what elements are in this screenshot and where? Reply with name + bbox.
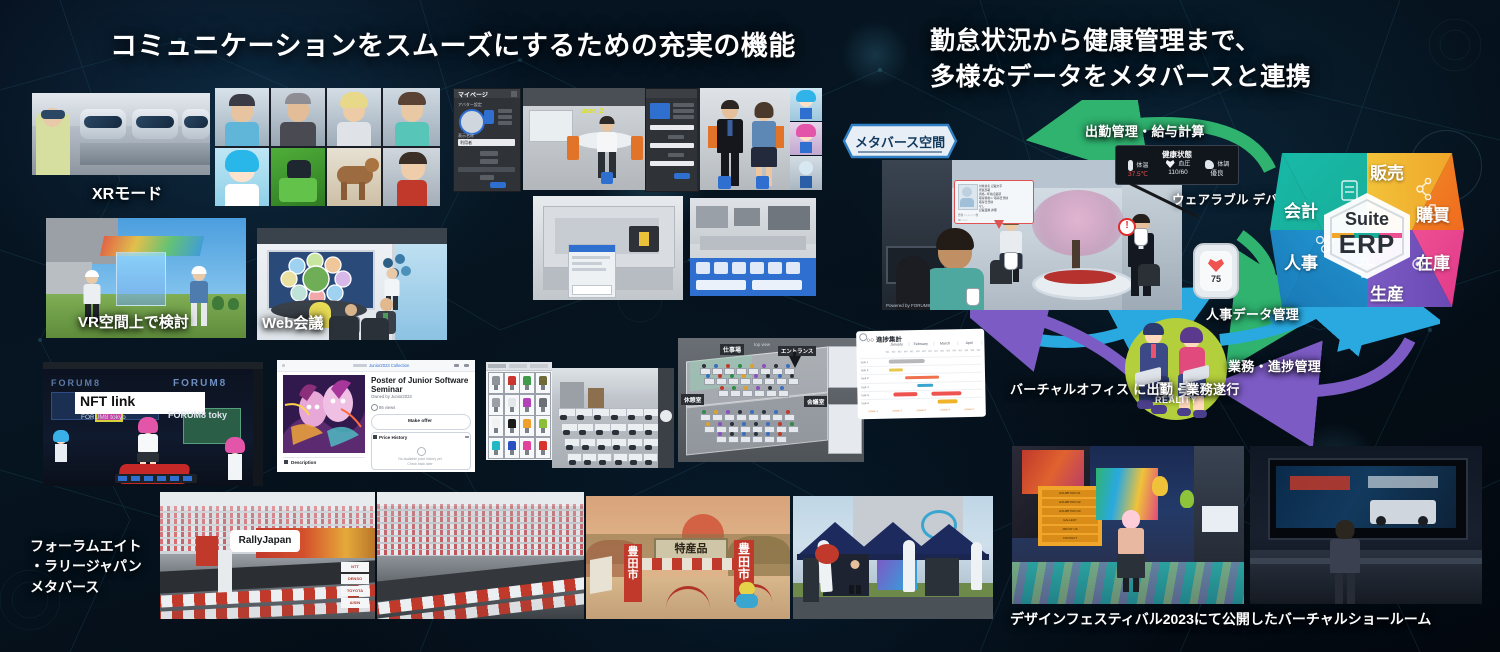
chair-icon	[508, 441, 516, 450]
chair-base-icon	[541, 450, 545, 455]
speech-tail	[994, 220, 1004, 229]
nft-description-label[interactable]: Description	[291, 460, 316, 465]
avatar-thumb	[215, 148, 269, 206]
chair-icon	[539, 419, 547, 428]
cursor-hand-icon	[1134, 228, 1148, 246]
share-icon[interactable]	[454, 364, 459, 367]
toolbar-icon[interactable]	[118, 476, 127, 481]
gantt-month: January	[884, 342, 909, 347]
sponsor-board: DENSO	[341, 574, 369, 584]
nft-title: Poster of Junior Software Seminar	[371, 376, 471, 394]
plan-desk	[704, 378, 715, 385]
chair-swatch[interactable]	[519, 437, 535, 459]
office-chair	[329, 316, 359, 340]
plan-person	[766, 422, 770, 426]
virtual-office-label: バーチャルオフィス に出勤・業務遂行	[1010, 381, 1240, 399]
erp-segment-purchase: 購買	[1416, 201, 1450, 226]
toolbar-field[interactable]	[752, 280, 802, 290]
sponsor-boards: NTTDENSOTOYOTAAISIN	[341, 562, 369, 612]
chair-icon	[508, 419, 516, 428]
gantt-icon	[859, 333, 867, 341]
nameplate	[756, 176, 769, 189]
showroom-menu-item[interactable]: GALLERY	[1042, 517, 1098, 524]
nft-marketplace-card[interactable]: Junior2023 Collection Description	[277, 360, 475, 472]
chair-swatch[interactable]	[504, 372, 520, 394]
save-button[interactable]	[490, 182, 506, 188]
field[interactable]	[650, 143, 694, 148]
showroom-menu-item[interactable]: EXHIBITION 02	[1042, 499, 1098, 506]
chair-unit	[630, 460, 637, 465]
feather-flag	[971, 542, 982, 590]
avatar-thumb	[271, 148, 325, 206]
heading-right: 勤怠状況から健康管理まで、 多様なデータをメタバースと連携	[930, 24, 1311, 95]
plan-person	[730, 422, 734, 426]
department-select[interactable]	[480, 151, 498, 156]
plan-desk	[788, 378, 799, 385]
chair-swatch[interactable]	[504, 437, 520, 459]
caption-rally-metaverse: フォーラムエイト ・ラリージャパン メタバース	[30, 536, 142, 597]
chair-icon	[539, 441, 547, 450]
muscle-icon	[1205, 160, 1214, 169]
chair-unit	[615, 460, 622, 465]
chair-base-icon	[541, 428, 545, 433]
plan-person	[726, 364, 730, 368]
toolbar-icon[interactable]	[696, 262, 710, 274]
plan-topview-label: top view	[754, 342, 770, 347]
chair-base-icon	[541, 385, 545, 390]
plan-desk	[728, 378, 739, 385]
plan-person	[774, 364, 778, 368]
gantt-row-label: task 4	[861, 385, 869, 389]
chevron-down-icon[interactable]	[465, 436, 469, 438]
plan-desk	[760, 414, 771, 421]
booth-panel	[925, 558, 959, 596]
chat-input[interactable]	[572, 285, 612, 295]
feather-flag	[903, 540, 915, 592]
field[interactable]	[668, 135, 684, 139]
chair-unit	[569, 460, 576, 465]
nameplate	[718, 176, 731, 189]
window-titlebar	[646, 89, 698, 98]
make-offer-label: Make offer	[371, 419, 469, 424]
chair-unit	[563, 430, 570, 435]
chair-swatch[interactable]	[488, 394, 504, 416]
back-icon[interactable]	[282, 364, 285, 367]
meeting-room-scene	[690, 198, 816, 296]
chair-swatch[interactable]	[504, 415, 520, 437]
plan-person	[786, 410, 790, 414]
plan-desk	[748, 414, 759, 421]
event-booth-scene	[793, 496, 993, 619]
mypage-panel[interactable]: マイページ アバター設定 表示名称 利用者	[453, 88, 521, 192]
plan-desk	[764, 378, 775, 385]
chair-unit	[645, 460, 652, 465]
toolbar-icon[interactable]	[183, 476, 192, 481]
balloon-icon	[1180, 490, 1194, 508]
avatar-back	[896, 256, 930, 310]
chair-icon	[508, 376, 516, 385]
stand-row	[160, 519, 375, 524]
chair-swatch[interactable]	[519, 372, 535, 394]
plan-label-workspace: 仕事場	[720, 344, 744, 355]
showroom-menu-item[interactable]: EXHIBITION 03	[1042, 508, 1098, 515]
plan-person	[702, 410, 706, 414]
avatar-male	[716, 102, 744, 186]
nft-owner: Owned by Junior2023	[371, 394, 412, 399]
avatar-thumb	[790, 122, 822, 155]
plan-person	[762, 364, 766, 368]
chair-unit	[629, 445, 636, 450]
gantt-bar[interactable]	[889, 359, 925, 363]
gantt-bar[interactable]	[893, 392, 917, 396]
plan-person	[754, 422, 758, 426]
toolbar-icon[interactable]	[714, 262, 728, 274]
chair-base-icon	[525, 407, 529, 412]
plan-desk	[740, 436, 751, 443]
window-titlebar	[43, 362, 263, 369]
plan-person	[730, 374, 734, 378]
plan-person	[706, 422, 710, 426]
plan-person	[718, 374, 722, 378]
status-row	[458, 167, 515, 172]
chair-icon	[492, 398, 500, 407]
health-card-title: 健康状態	[1116, 149, 1238, 160]
avatar-thumb	[383, 88, 440, 146]
erp-segment-production: 生産	[1370, 280, 1404, 305]
toolbar-field[interactable]	[696, 280, 746, 290]
smartwatch-icon: 75	[1193, 243, 1239, 299]
visitor-avatar	[1116, 510, 1146, 592]
avatar-thumb	[271, 88, 325, 146]
avatar-settings-panel[interactable]	[645, 88, 699, 192]
chair-swatch[interactable]	[535, 372, 551, 394]
chair-unit	[594, 415, 601, 420]
plan-person	[742, 422, 746, 426]
field[interactable]	[650, 161, 694, 166]
plan-person	[790, 374, 794, 378]
toolbar-icon[interactable]	[750, 262, 764, 274]
heading-left: コミュニケーションをスムーズにするための充実の機能	[110, 24, 796, 63]
plan-person	[742, 374, 746, 378]
gantt-row-label: task 6	[862, 401, 870, 405]
stand-row	[160, 513, 375, 518]
avatar-info-card: 対象者名 記載文字所属部署資格 □年前記載項取得資格1 / 取得日登録取得日登録…	[954, 180, 1034, 224]
plan-person	[702, 364, 706, 368]
plan-desk	[778, 390, 789, 397]
plan-desk	[740, 378, 751, 385]
toolbar-icon[interactable]	[732, 262, 746, 274]
chair-swatch[interactable]	[535, 437, 551, 459]
pillar-left: 豊田市	[624, 544, 642, 602]
chair-unit	[611, 415, 618, 420]
chair-base-icon	[510, 385, 514, 390]
rally-stadium-scene-2	[377, 492, 584, 619]
stand-row	[377, 544, 584, 549]
tab[interactable]	[530, 364, 548, 368]
chair-icon	[523, 398, 531, 407]
avatar-info-footer-right: ID ○○○○	[958, 219, 968, 222]
mypage-section-label: アバター設定	[458, 102, 482, 108]
plan-desk	[752, 436, 763, 443]
chair-base-icon	[510, 407, 514, 412]
avatar-type-button[interactable]	[484, 110, 494, 124]
erp-segment-accounting: 会計	[1284, 197, 1318, 222]
plan-desk	[742, 390, 753, 397]
chair-unit	[584, 460, 591, 465]
chair-unit	[560, 415, 567, 420]
stand-row	[377, 550, 584, 555]
plan-person	[732, 386, 736, 390]
plan-person	[778, 422, 782, 426]
chair-icon	[492, 376, 500, 385]
chair-icon	[539, 376, 547, 385]
showroom-menu-item[interactable]: CONTACT	[1042, 535, 1098, 542]
plan-desk	[764, 436, 775, 443]
showroom-menu-item[interactable]: ABOUT US	[1042, 526, 1098, 533]
chair-base-icon	[510, 450, 514, 455]
office-chair	[361, 318, 389, 340]
plan-desk	[752, 378, 763, 385]
size-field[interactable]	[498, 109, 512, 113]
world-text: FORUM8 toky	[168, 410, 227, 420]
stand-row	[377, 537, 584, 542]
vr-classroom-scene: user_2	[523, 88, 653, 190]
avatar-pair-scene	[700, 88, 790, 190]
thermometer-icon	[1128, 160, 1133, 171]
plan-person	[766, 374, 770, 378]
toolbar-icon[interactable]	[786, 262, 800, 274]
health-item-blood-pressure: 血圧 110/60	[1158, 160, 1198, 177]
plan-desk	[736, 414, 747, 421]
chair-unit	[582, 445, 589, 450]
avatar-thumb	[215, 88, 269, 146]
stand-row	[377, 530, 584, 535]
plan-desk	[716, 436, 727, 443]
chair-icon	[523, 419, 531, 428]
nav-gizmo[interactable]	[660, 410, 672, 422]
chair-base-icon	[494, 450, 498, 455]
avatar-gallery	[215, 88, 440, 206]
plan-desk	[712, 414, 723, 421]
toolbar-icon[interactable]	[170, 476, 179, 481]
plan-person	[778, 374, 782, 378]
status-select[interactable]	[480, 159, 498, 164]
avatar-thumb	[790, 88, 822, 121]
plan-desk	[788, 426, 799, 433]
gantt-legend-item: phase 3	[910, 409, 933, 412]
plan-label-entrance: エントランス	[778, 346, 816, 356]
mypage-title: マイページ	[458, 90, 488, 99]
plan-desk	[704, 426, 715, 433]
chair-base-icon	[510, 428, 514, 433]
chair-base-icon	[494, 428, 498, 433]
chart-icon	[373, 435, 377, 439]
attendance-label: 出勤管理・給与計算	[1085, 123, 1205, 141]
chair-swatch[interactable]	[488, 372, 504, 394]
showroom-menu-item[interactable]: EXHIBITION 01	[1042, 490, 1098, 497]
user-tag: user_2	[581, 108, 604, 115]
plan-person	[754, 432, 758, 436]
plan-person	[756, 386, 760, 390]
toolbar-icon[interactable]	[144, 476, 153, 481]
rally-banner: RallyJapan	[230, 530, 300, 552]
more-icon[interactable]	[464, 364, 469, 367]
task-progress-label: 業務・進捗管理	[1228, 358, 1321, 376]
plan-person	[762, 410, 766, 414]
plan-person	[714, 364, 718, 368]
description-icon	[284, 460, 288, 464]
screen-banner	[1290, 476, 1350, 490]
chair-swatch[interactable]	[488, 415, 504, 437]
eye-icon	[371, 404, 378, 411]
cursor-hand-icon	[1004, 252, 1018, 270]
sponsor-board: TOYOTA	[341, 586, 369, 596]
avatar	[53, 432, 69, 462]
nft-overlay-title: NFT link	[80, 393, 135, 409]
office-chair	[1138, 264, 1160, 286]
stand-row	[377, 524, 584, 529]
chair-icon	[523, 441, 531, 450]
viewer-side-rail[interactable]	[253, 369, 263, 486]
field[interactable]	[668, 153, 684, 157]
field[interactable]	[650, 125, 694, 130]
visitor-avatar	[847, 560, 863, 594]
erp-segment-inventory: 在庫	[1416, 249, 1450, 274]
plan-desk	[730, 390, 741, 397]
plan-person	[720, 386, 724, 390]
chair-icon	[539, 398, 547, 407]
chair-catalog-panel[interactable]	[486, 362, 552, 460]
chair-base-icon	[525, 428, 529, 433]
office-3d-view	[552, 368, 674, 468]
erp-segment-sales: 販売	[1370, 159, 1404, 184]
avatar-thumb-field[interactable]	[650, 103, 670, 119]
toolbar-icon[interactable]	[157, 476, 166, 481]
plan-person	[774, 410, 778, 414]
brand-text: FORUM8	[173, 378, 227, 389]
chair-unit	[628, 415, 635, 420]
chair-swatch[interactable]	[519, 415, 535, 437]
chair-swatch[interactable]	[535, 394, 551, 416]
nft-collection-label: Junior2023 Collection	[369, 363, 409, 368]
vr-headset-icon	[182, 109, 210, 139]
plan-desk	[772, 414, 783, 421]
field[interactable]	[673, 115, 694, 119]
gantt-row-label: task 3	[861, 376, 869, 380]
chair-unit	[566, 445, 573, 450]
plan-desk	[728, 436, 739, 443]
chair-unit	[645, 430, 652, 435]
showroom-menu-items[interactable]: EXHIBITION 01EXHIBITION 02EXHIBITION 03G…	[1042, 490, 1098, 544]
xr-mode-image	[32, 93, 210, 175]
avatar-thumb	[383, 148, 440, 206]
gantt-row-label: task 2	[861, 368, 869, 372]
metaverse-space-tag: メタバース空間	[842, 123, 958, 159]
apply-button[interactable]	[674, 173, 690, 179]
chair-icon	[523, 376, 531, 385]
sponsor-board: AISIN	[341, 598, 369, 608]
plan-person	[714, 410, 718, 414]
avatar-thumb	[327, 148, 381, 206]
vr-headset-icon	[132, 109, 178, 139]
clock-icon	[417, 447, 426, 456]
toolbar-icon[interactable]	[768, 262, 782, 274]
caption-web-meeting: Web会議	[262, 312, 323, 333]
avatar	[225, 440, 245, 480]
plan-person	[738, 410, 742, 414]
tab[interactable]	[509, 364, 527, 368]
close-icon[interactable]	[511, 91, 517, 97]
chair-swatch[interactable]	[504, 394, 520, 416]
chair-icon	[492, 441, 500, 450]
field[interactable]	[673, 109, 694, 113]
showroom-scene-1: EXHIBITION 01EXHIBITION 02EXHIBITION 03G…	[1012, 446, 1244, 604]
chair-swatch[interactable]	[535, 415, 551, 437]
plan-person	[790, 422, 794, 426]
chair-swatch[interactable]	[519, 394, 535, 416]
brand-text: FORUM8	[51, 378, 121, 386]
avatar-preview	[459, 109, 485, 135]
body-field[interactable]	[498, 121, 512, 125]
vr-headset-icon	[80, 109, 126, 139]
track-barriers	[377, 584, 584, 619]
office-desk-grid	[552, 402, 674, 468]
plan-person	[742, 432, 746, 436]
field[interactable]	[673, 103, 694, 107]
visitor-avatar	[1328, 520, 1362, 604]
plan-person	[778, 432, 782, 436]
chair-swatch[interactable]	[488, 437, 504, 459]
watch-value: 75	[1195, 274, 1237, 284]
booth-badge	[815, 544, 839, 564]
avatar-info-footer-left: 登録 ○○,○○,○○ 他	[958, 213, 978, 217]
price-history-empty-2: Check back later	[371, 462, 469, 466]
stadium-stands	[377, 504, 584, 558]
chair-swatch-grid[interactable]	[488, 372, 550, 458]
avatar-name-plate	[601, 172, 613, 184]
art-panel	[1202, 506, 1238, 532]
tab[interactable]	[488, 364, 506, 368]
plan-label-lounge: 休憩室	[681, 394, 704, 405]
plan-person	[738, 364, 742, 368]
balloon-icon	[1152, 476, 1168, 496]
health-status-card: 健康状態 体温 37.5℃ 血圧 110/60 体調 優良	[1115, 145, 1239, 185]
chair-base-icon	[525, 385, 529, 390]
nft-viewer-window[interactable]: FORUM8 FORUM8 NFT link FORUM8 tokyo FORU…	[43, 362, 263, 486]
plan-person	[754, 374, 758, 378]
meeting-select[interactable]	[480, 175, 494, 180]
plan-person	[766, 432, 770, 436]
chair-unit	[599, 460, 606, 465]
gantt-legend-item: phase 2	[886, 409, 909, 412]
chair-unit	[645, 445, 652, 450]
mascot-icon	[736, 582, 758, 608]
plan-person	[726, 410, 730, 414]
showroom-scene-2	[1250, 446, 1482, 604]
chair-base-icon	[494, 385, 498, 390]
chair-unit	[596, 430, 603, 435]
caption-xr-mode: XRモード	[92, 180, 162, 204]
stand-row	[377, 517, 584, 522]
gantt-row-label: task 5	[861, 393, 869, 397]
gantt-bar[interactable]	[889, 368, 903, 372]
chair-icon	[492, 419, 500, 428]
toolbar-icon[interactable]	[131, 476, 140, 481]
chat-panel[interactable]	[568, 244, 616, 298]
gantt-row-label: task 1	[861, 360, 869, 364]
stand-row	[377, 504, 584, 509]
height-field[interactable]	[498, 115, 512, 119]
